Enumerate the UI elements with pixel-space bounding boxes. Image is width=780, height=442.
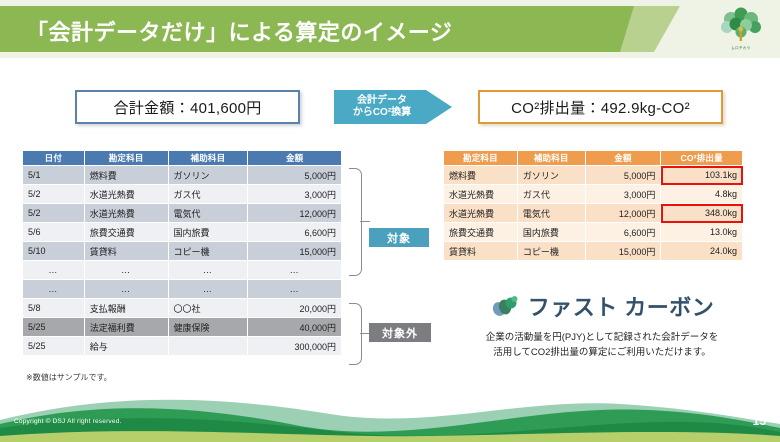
column-header-co2: CO²排出量 [661, 151, 743, 166]
cell-amount: 300,000円 [248, 337, 342, 356]
cell-amount: 6,600円 [248, 223, 342, 242]
cell-account: 旅費交通費 [444, 223, 518, 242]
cell-amount: 12,000円 [585, 204, 661, 223]
page-number: 15 [753, 414, 766, 428]
cell-amount: … [248, 261, 342, 280]
cell-sub: 電気代 [517, 204, 585, 223]
cell-amount: 3,000円 [585, 185, 661, 204]
cell-account: 水道光熱費 [444, 185, 518, 204]
table-row: 5/2水道光熱費ガス代3,000円 [23, 185, 342, 204]
cell-date: 5/1 [23, 166, 85, 185]
table-row: 賃貸料コピー機15,000円24.0kg [444, 242, 743, 261]
cell-amount: 20,000円 [248, 299, 342, 318]
cell-sub: ガソリン [168, 166, 248, 185]
cell-account: 給与 [84, 337, 168, 356]
conversion-arrow: 会計データ からCO²換算 [334, 86, 452, 128]
cell-date: 5/25 [23, 318, 85, 337]
page-title: 「会計データだけ」による算定のイメージ [26, 15, 452, 47]
cell-co2-highlighted: 348.0kg [661, 204, 743, 223]
brand-description-line2: 活用してCO2排出量の算定にご利用いただけます。 [452, 345, 752, 360]
footer-hills-graphic [0, 380, 780, 442]
table-row: 5/1燃料費ガソリン5,000円 [23, 166, 342, 185]
table-row: 5/2水道光熱費電気代12,000円 [23, 204, 342, 223]
cell-account: … [84, 280, 168, 299]
badge-target-label: 対象 [387, 230, 411, 246]
column-header-subaccount: 補助科目 [517, 151, 585, 166]
co2-emission-box: CO²排出量：492.9kg-CO² [478, 90, 723, 124]
badge-target: 対象 [369, 228, 429, 247]
logo-caption: ムロヂカラ [731, 45, 750, 50]
co2-result-table: 勘定科目 補助科目 金額 CO²排出量 燃料費ガソリン5,000円103.1kg… [443, 150, 743, 261]
column-header-account: 勘定科目 [444, 151, 518, 166]
table-row: 5/25法定福利費健康保険40,000円 [23, 318, 342, 337]
conversion-arrow-line2: からCO²換算 [353, 107, 411, 119]
table-header-row: 勘定科目 補助科目 金額 CO²排出量 [444, 151, 743, 166]
co2-emission-label: CO²排出量：492.9kg-CO² [511, 97, 690, 118]
column-header-amount: 金額 [585, 151, 661, 166]
table-row: 5/25給与300,000円 [23, 337, 342, 356]
cell-account: 水道光熱費 [444, 204, 518, 223]
table-row: 水道光熱費電気代12,000円348.0kg [444, 204, 743, 223]
cell-sub: ガス代 [517, 185, 585, 204]
slide-footer: Copyright © DSJ All right reserved. 15 [0, 380, 780, 442]
cell-sub: 健康保険 [168, 318, 248, 337]
table-row: 5/6旅費交通費国内旅費6,600円 [23, 223, 342, 242]
tree-logo-icon [718, 7, 764, 45]
accounting-data-table: 日付 勘定科目 補助科目 金額 5/1燃料費ガソリン5,000円5/2水道光熱費… [22, 150, 342, 356]
cell-sub: 国内旅費 [168, 223, 248, 242]
column-header-subaccount: 補助科目 [168, 151, 248, 166]
cell-sub: ガソリン [517, 166, 585, 185]
bracket-target-tick [360, 221, 370, 222]
brand-description-line1: 企業の活動量を円(PJY)として記録された会計データを [452, 330, 752, 345]
leaf-mark-icon [490, 294, 520, 318]
brand-row: ファスト カーボン [452, 290, 752, 322]
badge-non-target-label: 対象外 [382, 325, 418, 341]
cell-amount: 5,000円 [248, 166, 342, 185]
table-row: 5/8支払報酬〇〇社20,000円 [23, 299, 342, 318]
cell-account: 燃料費 [84, 166, 168, 185]
badge-non-target: 対象外 [369, 323, 431, 342]
cell-account: 水道光熱費 [84, 185, 168, 204]
column-header-account: 勘定科目 [84, 151, 168, 166]
copyright-text: Copyright © DSJ All right reserved. [14, 418, 122, 425]
brand-name: ファスト カーボン [528, 290, 715, 322]
header-band-accent [620, 6, 710, 52]
slide: 「会計データだけ」による算定のイメージ ムロヂカラ 合計金額：401,600円 … [0, 0, 780, 442]
cell-account: 支払報酬 [84, 299, 168, 318]
cell-amount: 40,000円 [248, 318, 342, 337]
cell-date: 5/2 [23, 185, 85, 204]
cell-account: … [84, 261, 168, 280]
table-row: 燃料費ガソリン5,000円103.1kg [444, 166, 743, 185]
column-header-date: 日付 [23, 151, 85, 166]
cell-account: 賃貸料 [444, 242, 518, 261]
cell-sub: … [168, 261, 248, 280]
cell-date: … [23, 280, 85, 299]
cell-sub: 国内旅費 [517, 223, 585, 242]
cell-co2: 4.8kg [661, 185, 743, 204]
cell-account: 水道光熱費 [84, 204, 168, 223]
table-header-row: 日付 勘定科目 補助科目 金額 [23, 151, 342, 166]
company-logo: ムロヂカラ [710, 2, 772, 56]
cell-amount: 15,000円 [585, 242, 661, 261]
cell-amount: … [248, 280, 342, 299]
cell-account: 賃貸料 [84, 242, 168, 261]
column-header-amount: 金額 [248, 151, 342, 166]
cell-date: 5/6 [23, 223, 85, 242]
table-row: ………… [23, 280, 342, 299]
conversion-arrow-line1: 会計データ [357, 95, 407, 107]
cell-sub: ガス代 [168, 185, 248, 204]
table-row: 5/10賃貸料コピー機15,000円 [23, 242, 342, 261]
cell-account: 法定福利費 [84, 318, 168, 337]
cell-account: 旅費交通費 [84, 223, 168, 242]
cell-date: … [23, 261, 85, 280]
cell-sub: コピー機 [517, 242, 585, 261]
table-row: ………… [23, 261, 342, 280]
cell-co2-highlighted: 103.1kg [661, 166, 743, 185]
total-amount-label: 合計金額：401,600円 [113, 97, 261, 118]
brand-description: 企業の活動量を円(PJY)として記録された会計データを 活用してCO2排出量の算… [452, 330, 752, 360]
cell-date: 5/8 [23, 299, 85, 318]
cell-co2: 13.0kg [661, 223, 743, 242]
cell-date: 5/10 [23, 242, 85, 261]
product-brand: ファスト カーボン 企業の活動量を円(PJY)として記録された会計データを 活用… [452, 290, 752, 360]
cell-amount: 6,600円 [585, 223, 661, 242]
table-row: 旅費交通費国内旅費6,600円13.0kg [444, 223, 743, 242]
cell-amount: 15,000円 [248, 242, 342, 261]
table-row: 水道光熱費ガス代3,000円4.8kg [444, 185, 743, 204]
cell-sub: 電気代 [168, 204, 248, 223]
slide-header: 「会計データだけ」による算定のイメージ ムロヂカラ [0, 0, 780, 58]
cell-amount: 3,000円 [248, 185, 342, 204]
cell-date: 5/2 [23, 204, 85, 223]
cell-sub [168, 337, 248, 356]
cell-sub: コピー機 [168, 242, 248, 261]
cell-sub: … [168, 280, 248, 299]
cell-co2: 24.0kg [661, 242, 743, 261]
cell-date: 5/25 [23, 337, 85, 356]
total-amount-box: 合計金額：401,600円 [75, 90, 300, 124]
cell-sub: 〇〇社 [168, 299, 248, 318]
cell-account: 燃料費 [444, 166, 518, 185]
cell-amount: 5,000円 [585, 166, 661, 185]
cell-amount: 12,000円 [248, 204, 342, 223]
